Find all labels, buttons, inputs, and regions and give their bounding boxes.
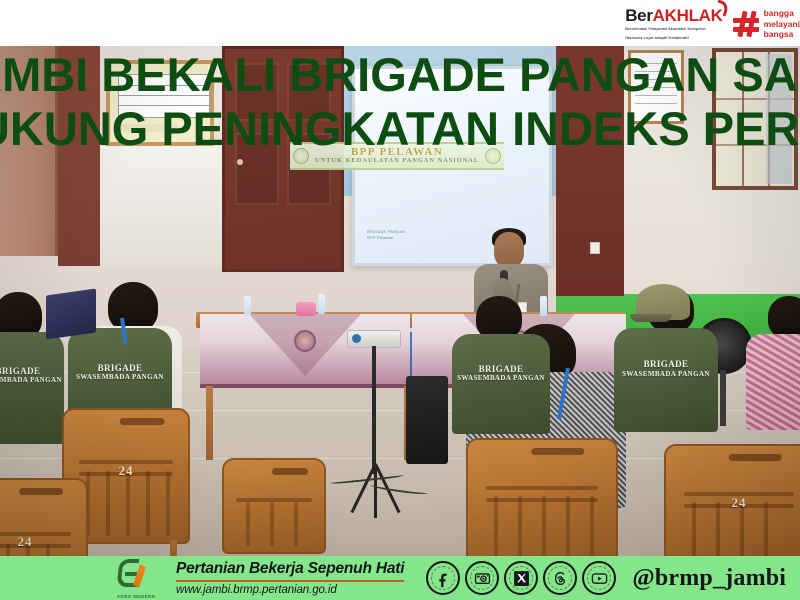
projector-lens [352,334,361,343]
attendee-vest: BRIGADE SWASEMBADA PANGAN [452,334,550,434]
screen-note: BRIGADE PANGAN BPP Pelawan [367,229,406,241]
water-bottle [540,296,547,316]
white-panel-left [100,146,222,266]
bpp-pelawan-banner: BPP PELAWAN UNTUK KEDAULATAN PANGAN NASI… [290,142,504,170]
berakhlak-values-2: Harmonis Loyal Adaptif Kolaboratif [625,36,722,41]
vest-label: BRIGADE SWASEMBADA PANGAN [452,364,550,382]
chair-numbered [222,458,326,554]
threads-icon[interactable] [543,561,577,595]
board-table [118,74,210,118]
logo-cluster: BerAKHLAK Berorientasi Pelayanan Akuntab… [625,6,800,42]
footer-tagline-block: Pertanian Bekerja Sepenuh Hati www.jambi… [176,560,404,596]
door-left-dark [58,46,100,266]
bangga-line1: bangga [764,8,800,19]
bulletin-board [106,60,214,146]
facebook-icon[interactable] [426,561,460,595]
water-bottle [244,296,251,316]
seal-left-icon [293,148,309,164]
attendee-head [108,282,158,332]
wall-outlet [590,242,600,254]
bangga-line2: melayani [764,19,800,30]
attendee-shirt-pink [746,334,800,430]
vest-label: BRIGADE SWASEMBADA PANGAN [68,363,172,381]
bangga-wordmark: bangga melayani bangsa [764,8,800,40]
bangga-line3: bangsa [764,29,800,40]
speaker-head [494,232,524,268]
attendee-vest: BRIGADE SWASEMBADA PANGAN [614,328,718,432]
chair-number: 24 [666,495,800,511]
bpp-subtitle: UNTUK KEDAULATAN PANGAN NASIONAL [315,158,479,165]
tripod-leg [374,464,377,518]
vest-label: BRIGADE SWASEMBADA PANGAN [614,359,718,377]
chair-numbered: 24 [0,478,88,556]
agro-mark-icon [118,559,152,589]
x-icon[interactable] [504,561,538,595]
chair-number: 24 [0,534,86,550]
instagram-icon[interactable] [465,561,499,595]
batik-tablecloth [200,314,410,388]
tripod-pole [372,346,376,474]
social-handle: @brmp_jambi [632,565,786,592]
door-knob [237,159,243,165]
agro-modern-logo: AGRO MODERN [110,558,162,598]
berakhlak-values-1: Berorientasi Pelayanan Akuntabel Kompete… [625,27,722,32]
fan-pole [720,370,726,426]
footer-website: www.jambi.brmp.pertanian.go.id [176,584,404,596]
vest-label: BRIGADE SWASEMBADA PANGAN [0,366,64,384]
laptop [46,288,96,339]
hashtag-icon [733,11,759,37]
chair-numbered [466,438,618,556]
notice-chart [628,50,684,124]
attendee-cap-brim [630,314,672,322]
footer-bar: AGRO MODERN Pertanian Bekerja Sepenuh Ha… [0,556,800,600]
pa-speaker-box [406,376,448,464]
door-left [0,46,58,256]
event-photograph: BRIGADE PANGAN BPP Pelawan BPP PELAWAN U… [0,46,800,556]
youtube-icon[interactable] [582,561,616,595]
chair-numbered: 24 [664,444,800,556]
banner-canvas: BRIGADE PANGAN BPP Pelawan BPP PELAWAN U… [0,0,800,600]
window-right [712,48,798,190]
berakhlak-akhlak: AKHLAK [653,6,723,25]
door-right-dark [556,46,624,296]
curtain [766,54,792,184]
bangga-melayani-bangsa-logo: bangga melayani bangsa [733,8,800,40]
social-icons [426,561,616,595]
pink-tray [296,302,316,316]
agro-modern-caption: AGRO MODERN [110,594,162,599]
water-bottle [318,294,325,314]
bpp-banner-text: BPP PELAWAN UNTUK KEDAULATAN PANGAN NASI… [315,147,479,165]
berakhlak-wordmark: BerAKHLAK [625,7,722,24]
board-note [118,124,178,132]
chair-number: 24 [64,463,188,479]
tagline-rule [176,580,404,582]
seal-right-icon [485,148,501,164]
attendee-vest: BRIGADE SWASEMBADA PANGAN [0,332,64,444]
berakhlak-ber: Ber [625,6,652,25]
berakhlak-logo: BerAKHLAK Berorientasi Pelayanan Akuntab… [625,7,722,41]
attendee-head [768,296,800,338]
footer-tagline: Pertanian Bekerja Sepenuh Hati [176,560,404,578]
